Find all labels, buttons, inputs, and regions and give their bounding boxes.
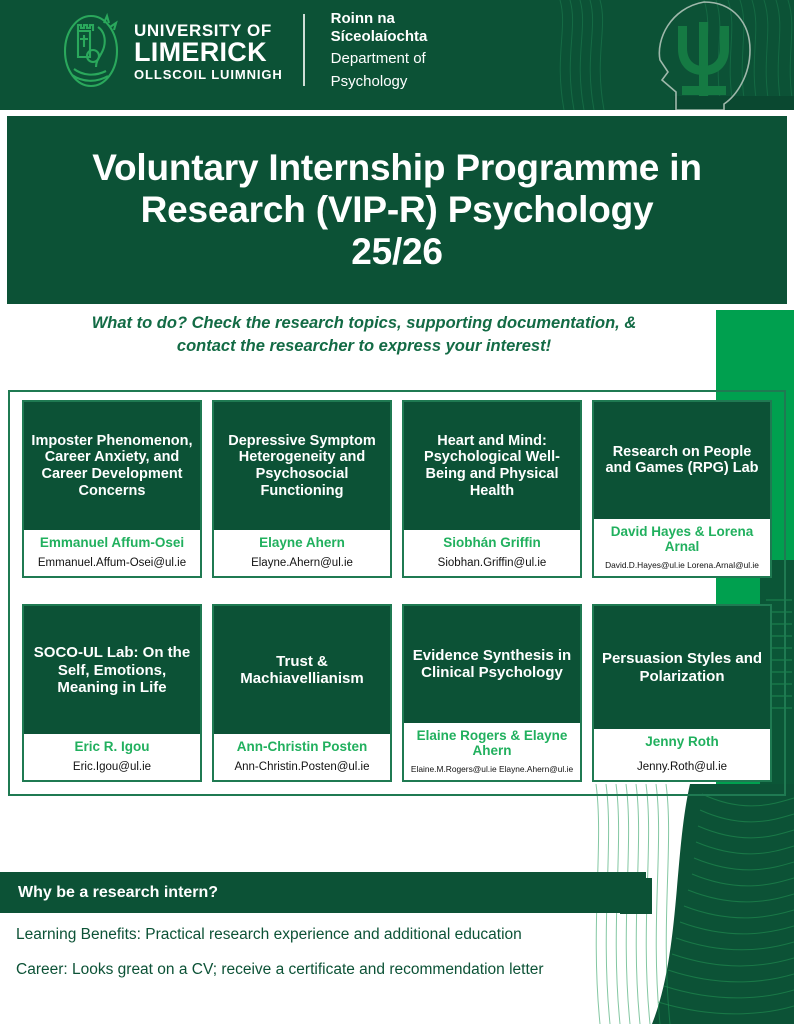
topic-row-1: Imposter Phenomenon, Career Anxiety, and… xyxy=(16,400,778,578)
topic-title: Persuasion Styles and Polarization xyxy=(594,606,770,729)
title-banner: Voluntary Internship Programme in Resear… xyxy=(6,115,788,305)
researcher-email[interactable]: Jenny.Roth@ul.ie xyxy=(597,761,767,774)
instruction-line-1: What to do? Check the research topics, s… xyxy=(34,312,694,335)
researcher-email[interactable]: Elayne.Ahern@ul.ie xyxy=(217,557,387,570)
topic-contact: Elayne Ahern Elayne.Ahern@ul.ie xyxy=(214,530,390,576)
researcher-email[interactable]: David.D.Hayes@ul.ie Lorena.Arnal@ul.ie xyxy=(597,561,767,570)
topic-title: Trust & Machiavellianism xyxy=(214,606,390,734)
topic-card[interactable]: Heart and Mind: Psychological Well-Being… xyxy=(402,400,582,578)
researcher-name: Ann-Christin Posten xyxy=(217,739,387,754)
topic-card[interactable]: Trust & Machiavellianism Ann-Christin Po… xyxy=(212,604,392,782)
ul-crest-icon xyxy=(60,11,122,89)
head-psi-icon xyxy=(646,0,766,110)
topic-card[interactable]: Persuasion Styles and Polarization Jenny… xyxy=(592,604,772,782)
topic-card[interactable]: Depressive Symptom Heterogeneity and Psy… xyxy=(212,400,392,578)
researcher-name: Jenny Roth xyxy=(597,734,767,749)
topic-contact: Siobhán Griffin Siobhan.Griffin@ul.ie xyxy=(404,530,580,576)
university-wordmark: UNIVERSITY OF LIMERICK OLLSCOIL LUIMNIGH xyxy=(134,20,283,81)
topic-title: Heart and Mind: Psychological Well-Being… xyxy=(404,402,580,530)
topic-card[interactable]: Imposter Phenomenon, Career Anxiety, and… xyxy=(22,400,202,578)
research-topics-grid: Imposter Phenomenon, Career Anxiety, and… xyxy=(8,390,786,796)
researcher-name: Eric R. Igou xyxy=(27,739,197,754)
topic-contact: Elaine Rogers & Elayne Ahern Elaine.M.Ro… xyxy=(404,723,580,780)
researcher-email[interactable]: Elaine.M.Rogers@ul.ie Elayne.Ahern@ul.ie xyxy=(407,765,577,774)
page-header: UNIVERSITY OF LIMERICK OLLSCOIL LUIMNIGH… xyxy=(0,0,794,110)
topic-card[interactable]: Research on People and Games (RPG) Lab D… xyxy=(592,400,772,578)
topic-contact: Jenny Roth Jenny.Roth@ul.ie xyxy=(594,729,770,780)
researcher-email[interactable]: Eric.Igou@ul.ie xyxy=(27,761,197,774)
researcher-name: Elayne Ahern xyxy=(217,535,387,550)
researcher-email[interactable]: Siobhan.Griffin@ul.ie xyxy=(407,557,577,570)
topic-title: SOCO-UL Lab: On the Self, Emotions, Mean… xyxy=(24,606,200,734)
topic-row-2: SOCO-UL Lab: On the Self, Emotions, Mean… xyxy=(16,604,778,782)
benefit-item: Career: Looks great on a CV; receive a c… xyxy=(16,960,626,979)
benefit-item: Learning Benefits: Practical research ex… xyxy=(16,925,626,944)
researcher-name: Siobhán Griffin xyxy=(407,535,577,550)
researcher-email[interactable]: Emmanuel.Affum-Osei@ul.ie xyxy=(27,557,197,570)
benefits-list: Learning Benefits: Practical research ex… xyxy=(16,925,626,996)
instruction-text: What to do? Check the research topics, s… xyxy=(34,312,694,359)
topic-title: Evidence Synthesis in Clinical Psycholog… xyxy=(404,606,580,723)
poster-root: UNIVERSITY OF LIMERICK OLLSCOIL LUIMNIGH… xyxy=(0,0,794,1024)
header-divider xyxy=(303,14,305,86)
topic-contact: Ann-Christin Posten Ann-Christin.Posten@… xyxy=(214,734,390,780)
department-english-line-2: Psychology xyxy=(331,68,428,91)
topic-contact: Eric R. Igou Eric.Igou@ul.ie xyxy=(24,734,200,780)
why-intern-banner: Why be a research intern? xyxy=(0,872,646,913)
title-line-3: 25/26 xyxy=(92,231,701,273)
topic-title: Depressive Symptom Heterogeneity and Psy… xyxy=(214,402,390,530)
university-line-2: LIMERICK xyxy=(134,39,283,66)
instruction-line-2: contact the researcher to express your i… xyxy=(34,335,694,358)
department-english-line-1: Department of xyxy=(331,45,428,68)
why-intern-heading: Why be a research intern? xyxy=(18,884,218,902)
topic-card[interactable]: Evidence Synthesis in Clinical Psycholog… xyxy=(402,604,582,782)
topic-card[interactable]: SOCO-UL Lab: On the Self, Emotions, Mean… xyxy=(22,604,202,782)
researcher-name: Emmanuel Affum-Osei xyxy=(27,535,197,550)
topic-contact: David Hayes & Lorena Arnal David.D.Hayes… xyxy=(594,519,770,576)
page-title: Voluntary Internship Programme in Resear… xyxy=(92,147,701,274)
topic-contact: Emmanuel Affum-Osei Emmanuel.Affum-Osei@… xyxy=(24,530,200,576)
department-irish-line-1: Roinn na xyxy=(331,10,428,28)
topic-title: Imposter Phenomenon, Career Anxiety, and… xyxy=(24,402,200,530)
title-line-1: Voluntary Internship Programme in xyxy=(92,147,701,189)
researcher-name: David Hayes & Lorena Arnal xyxy=(597,524,767,554)
department-name: Roinn na Síceolaíochta Department of Psy… xyxy=(331,10,428,91)
university-line-3: OLLSCOIL LUIMNIGH xyxy=(134,66,283,81)
researcher-name: Elaine Rogers & Elayne Ahern xyxy=(407,728,577,758)
topic-title: Research on People and Games (RPG) Lab xyxy=(594,402,770,519)
header-branding: UNIVERSITY OF LIMERICK OLLSCOIL LUIMNIGH… xyxy=(60,10,427,91)
decor-dark-square xyxy=(620,878,652,914)
title-line-2: Research (VIP-R) Psychology xyxy=(92,189,701,231)
department-irish-line-2: Síceolaíochta xyxy=(331,28,428,46)
researcher-email[interactable]: Ann-Christin.Posten@ul.ie xyxy=(217,761,387,774)
